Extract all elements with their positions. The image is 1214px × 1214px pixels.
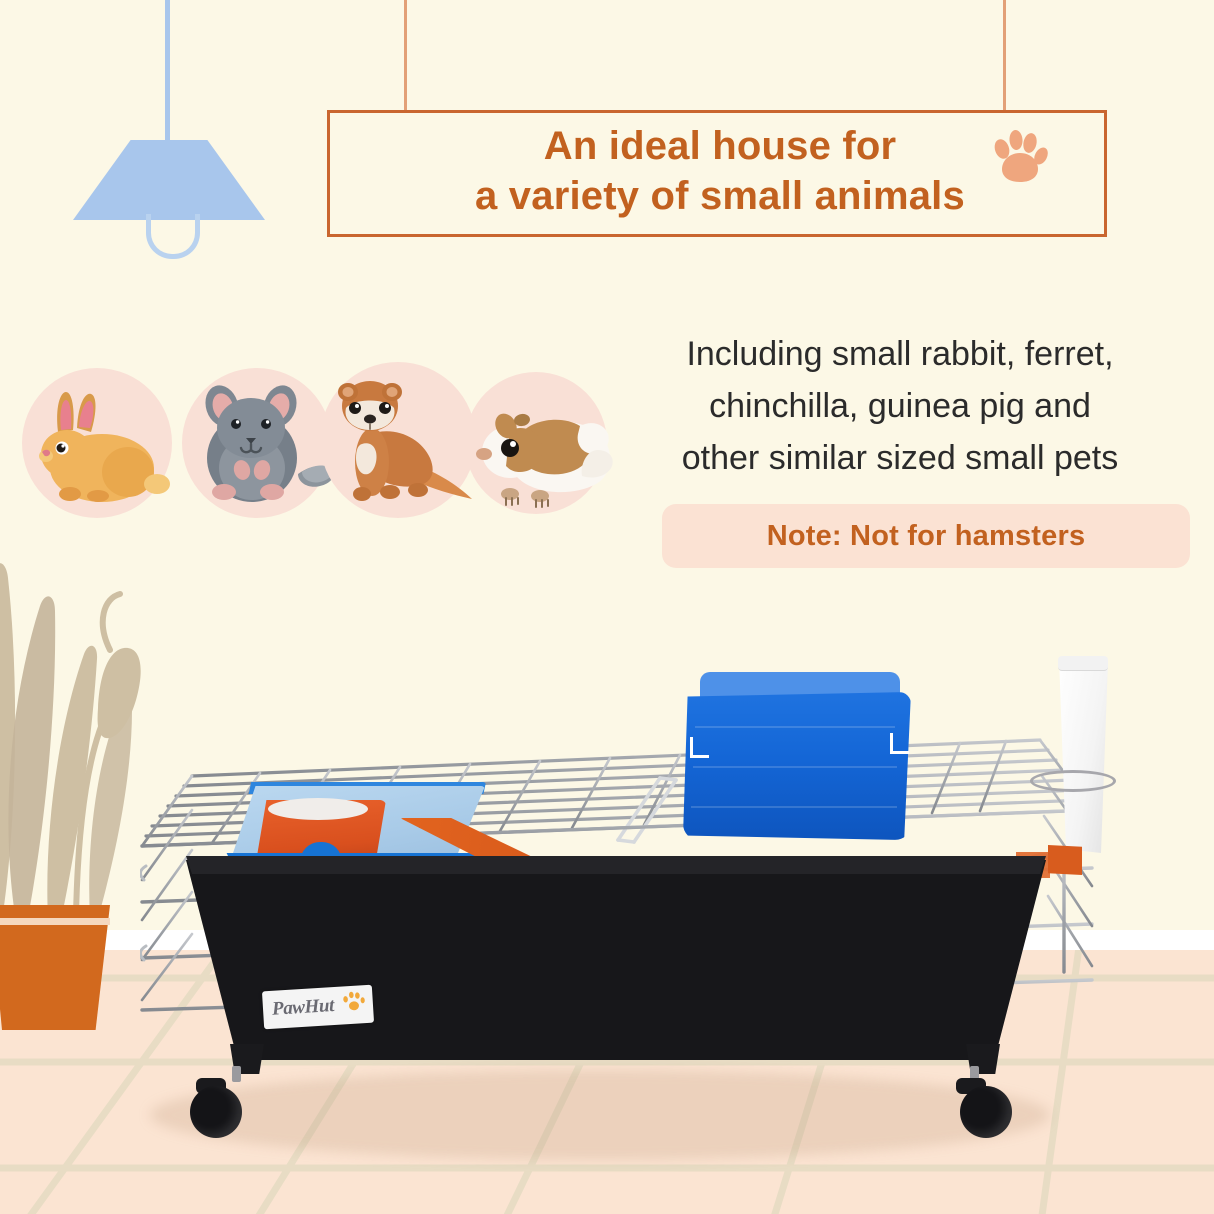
caster-pin [232,1066,241,1082]
hideout-cavity [268,798,368,820]
description-line-1: Including small rabbit, ferret, [600,328,1200,380]
hideout-tab-right [890,733,909,754]
water-bottle-nozzle [1048,845,1082,875]
water-bottle [1058,658,1108,853]
note-text: Note: Not for hamsters [767,520,1086,553]
plant-pot-rim [0,918,110,925]
hideout-rib [693,766,897,768]
description-line-2: chinchilla, guinea pig and [600,380,1200,432]
headline-box: An ideal house for a variety of small an… [327,110,1107,237]
note-badge: Note: Not for hamsters [662,504,1190,568]
water-bottle-holder-ring [1030,770,1116,792]
brand-label: PawHut [262,985,374,1030]
base-tray [186,860,1046,1060]
hideout-rib [695,726,895,728]
chinchilla-icon [180,366,340,514]
hanging-line-left [404,0,407,112]
blue-hideout [683,692,911,840]
tray-rim [186,856,1046,874]
description-line-3: other similar sized small pets [600,432,1200,484]
poster-canvas: An ideal house for a variety of small an… [0,0,1214,1214]
water-bottle-cap [1058,656,1108,671]
caster-wheel [190,1086,242,1138]
hideout-rib [691,806,897,808]
hanging-line-right [1003,0,1006,112]
caster-wheel [960,1086,1012,1138]
rabbit-icon [20,372,172,512]
hideout-tab-left [690,737,709,758]
lamp-cord [165,0,170,142]
paw-print-icon [990,129,1048,185]
description-text: Including small rabbit, ferret, chinchil… [600,328,1200,484]
brand-name: PawHut [271,995,334,1021]
brand-paw-icon [341,990,366,1013]
guinea-pig-icon [462,382,618,510]
